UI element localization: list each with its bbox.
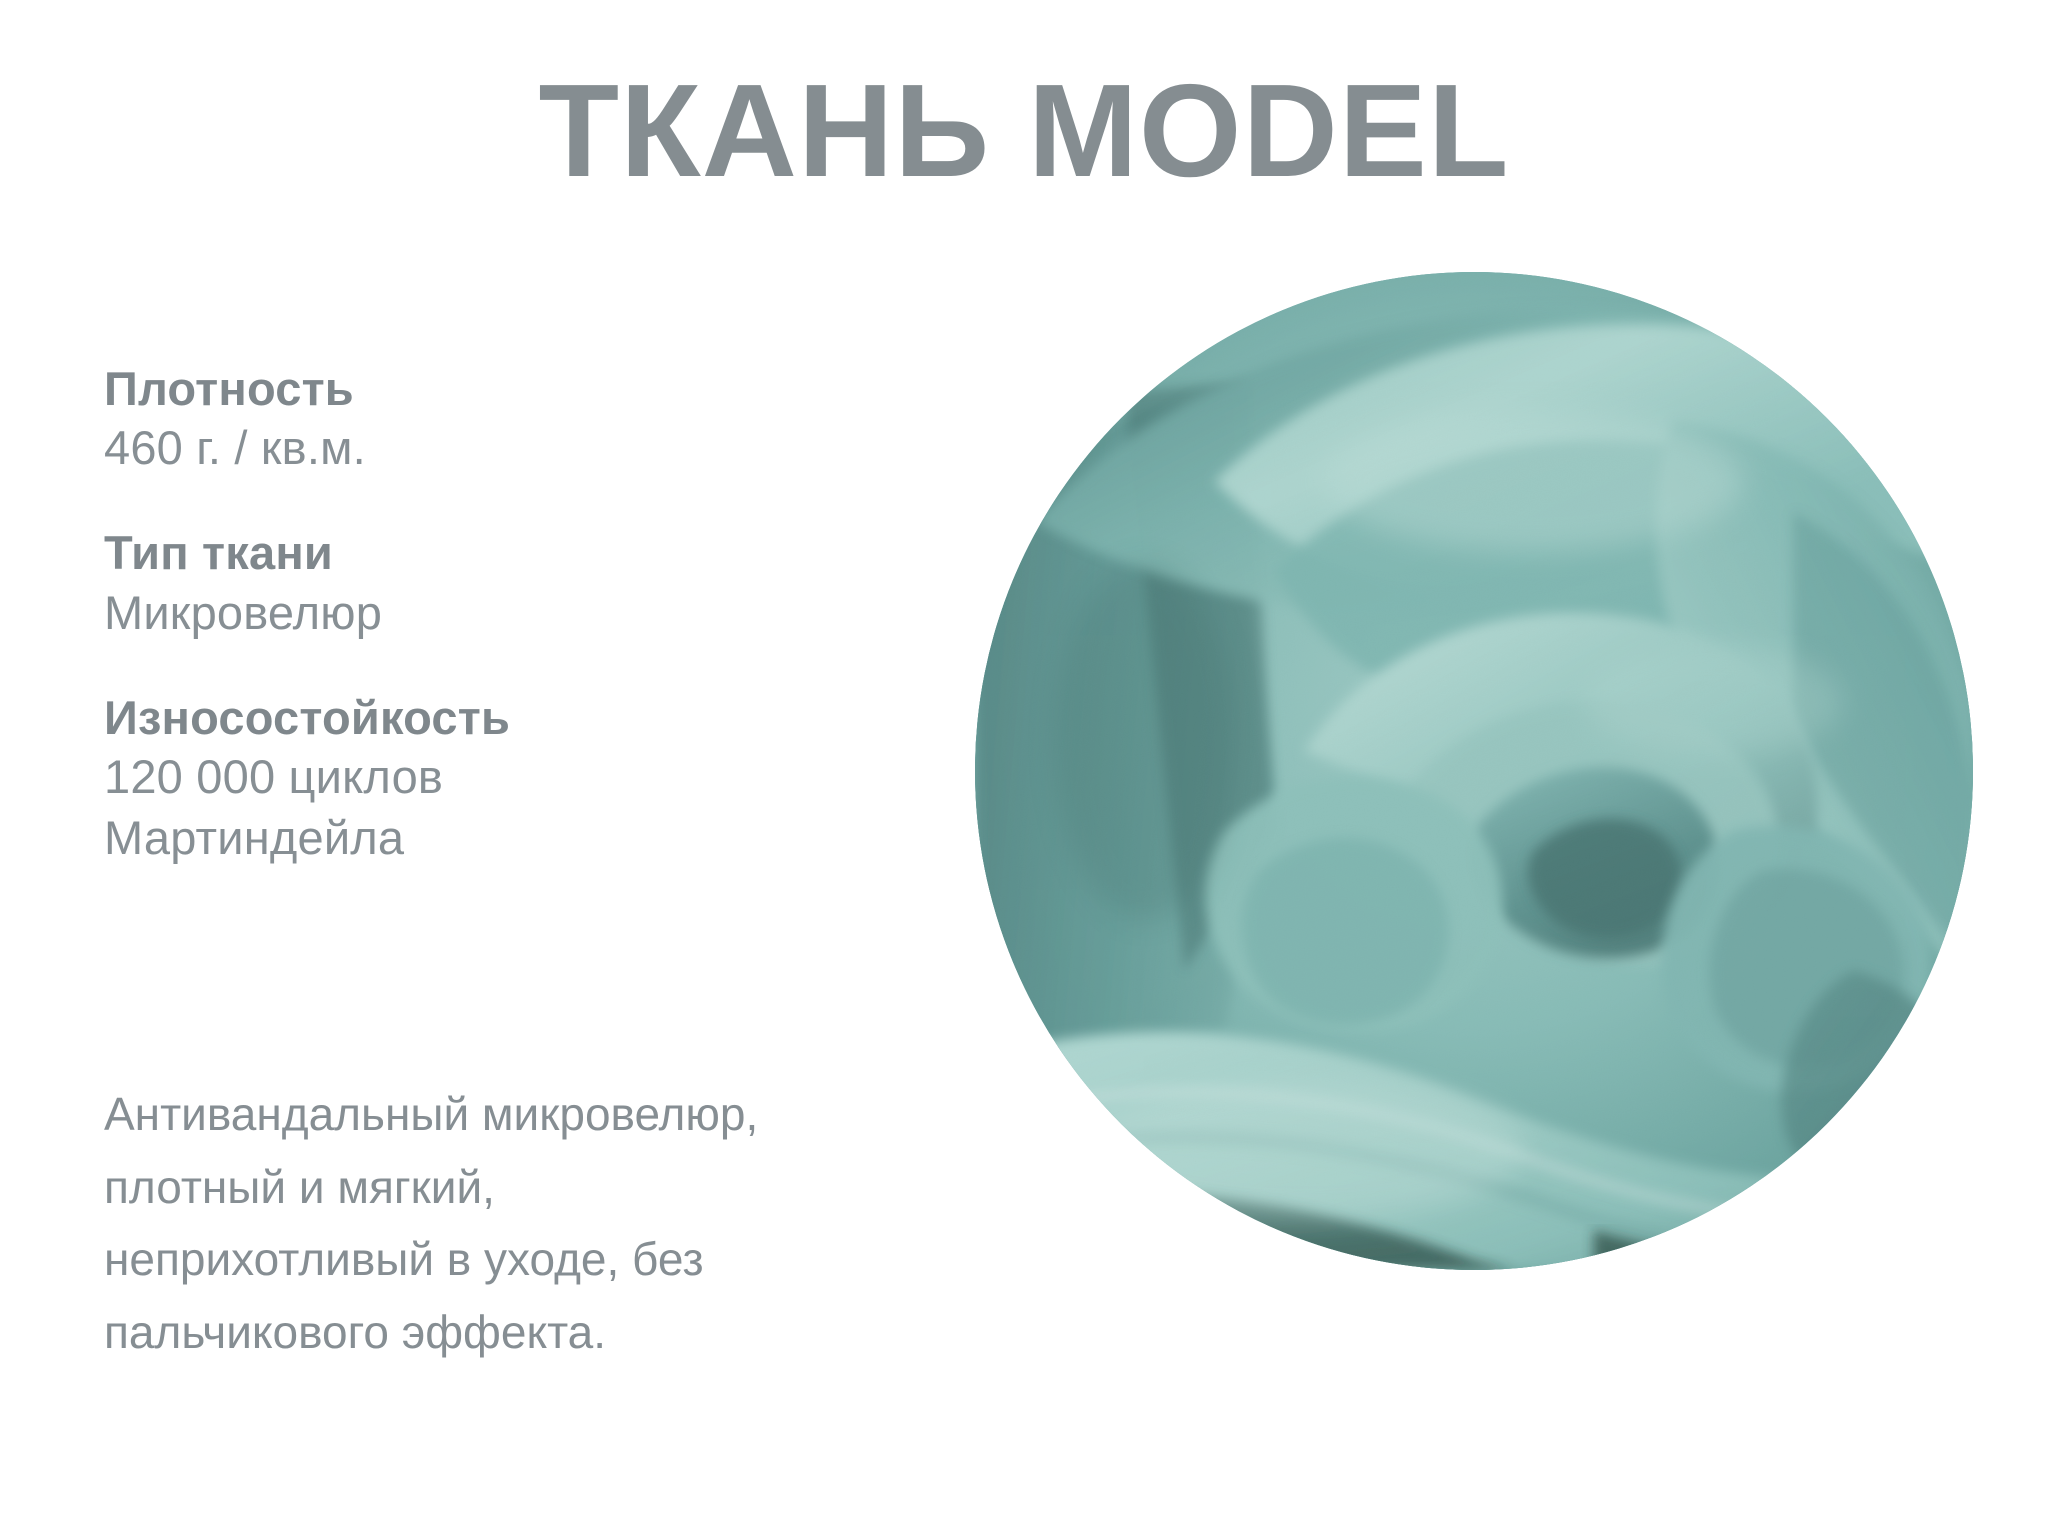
spec-label-abrasion-resistance: Износостойкость xyxy=(104,689,904,746)
spec-value-line: 460 г. / кв.м. xyxy=(104,417,904,478)
fabric-spec-slide: ТКАНЬ MODEL Плотность 460 г. / кв.м. Тип… xyxy=(0,0,2048,1536)
description-line: пальчикового эффекта. xyxy=(104,1296,1044,1369)
spec-value-line: Мартиндейла xyxy=(104,807,904,868)
spec-item-density: Плотность 460 г. / кв.м. xyxy=(104,360,904,478)
description-line: плотный и мягкий, xyxy=(104,1151,1044,1224)
spec-item-fabric-type: Тип ткани Микровелюр xyxy=(104,524,904,642)
fabric-illustration xyxy=(975,272,1973,1270)
description-paragraph: Антивандальный микровелюр, плотный и мяг… xyxy=(104,1078,1044,1369)
spec-label-fabric-type: Тип ткани xyxy=(104,524,904,581)
page-title: ТКАНЬ MODEL xyxy=(0,58,2048,203)
spec-value-abrasion-resistance: 120 000 циклов Мартиндейла xyxy=(104,746,904,868)
description-line: неприхотливый в уходе, без xyxy=(104,1223,1044,1296)
spec-label-density: Плотность xyxy=(104,360,904,417)
spec-value-line: 120 000 циклов xyxy=(104,746,904,807)
spec-value-line: Микровелюр xyxy=(104,582,904,643)
spec-value-density: 460 г. / кв.м. xyxy=(104,417,904,478)
spec-value-fabric-type: Микровелюр xyxy=(104,582,904,643)
description-line: Антивандальный микровелюр, xyxy=(104,1078,1044,1151)
spec-list: Плотность 460 г. / кв.м. Тип ткани Микро… xyxy=(104,360,904,868)
fabric-swatch-photo xyxy=(975,272,1973,1270)
spec-item-abrasion-resistance: Износостойкость 120 000 циклов Мартиндей… xyxy=(104,689,904,869)
